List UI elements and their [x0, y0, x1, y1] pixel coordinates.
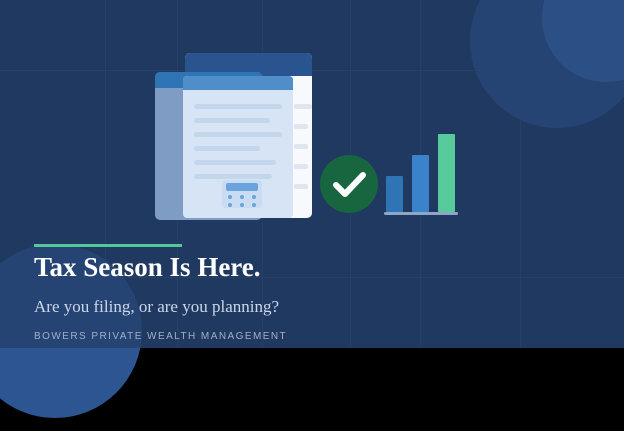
document-back-side-line — [294, 164, 308, 169]
document-text-line — [194, 132, 282, 137]
calculator-key — [228, 203, 232, 207]
calculator-key — [240, 203, 244, 207]
document-text-line — [194, 104, 282, 109]
document-front-header — [183, 76, 293, 90]
document-text-line — [194, 118, 270, 123]
chart-bar — [386, 176, 403, 212]
banner-image: Tax Season Is Here. Are you filing, or a… — [0, 0, 624, 431]
headline-block: Tax Season Is Here. Are you filing, or a… — [34, 244, 287, 342]
chart-bar — [412, 155, 429, 212]
subtitle: Are you filing, or are you planning? — [34, 297, 287, 317]
brand-name: BOWERS PRIVATE WEALTH MANAGEMENT — [34, 331, 287, 342]
calculator-screen — [226, 183, 258, 191]
document-back-side-line — [294, 104, 308, 109]
document-text-line — [194, 160, 276, 165]
page-title: Tax Season Is Here. — [34, 252, 287, 282]
calculator-key — [252, 203, 256, 207]
document-back-side-line — [294, 144, 308, 149]
check-icon — [320, 155, 378, 213]
chart-bar — [438, 134, 455, 212]
document-text-line — [194, 174, 272, 179]
document-back-side-line — [294, 124, 308, 129]
calculator-key — [228, 195, 232, 199]
banner-surface: Tax Season Is Here. Are you filing, or a… — [0, 0, 624, 348]
calculator-key — [240, 195, 244, 199]
chart-baseline — [384, 212, 458, 215]
accent-rule — [34, 244, 182, 247]
growth-bar-chart — [386, 130, 456, 212]
document-text-line — [194, 146, 260, 151]
document-back-side-line — [294, 184, 308, 189]
calculator-key — [252, 195, 256, 199]
